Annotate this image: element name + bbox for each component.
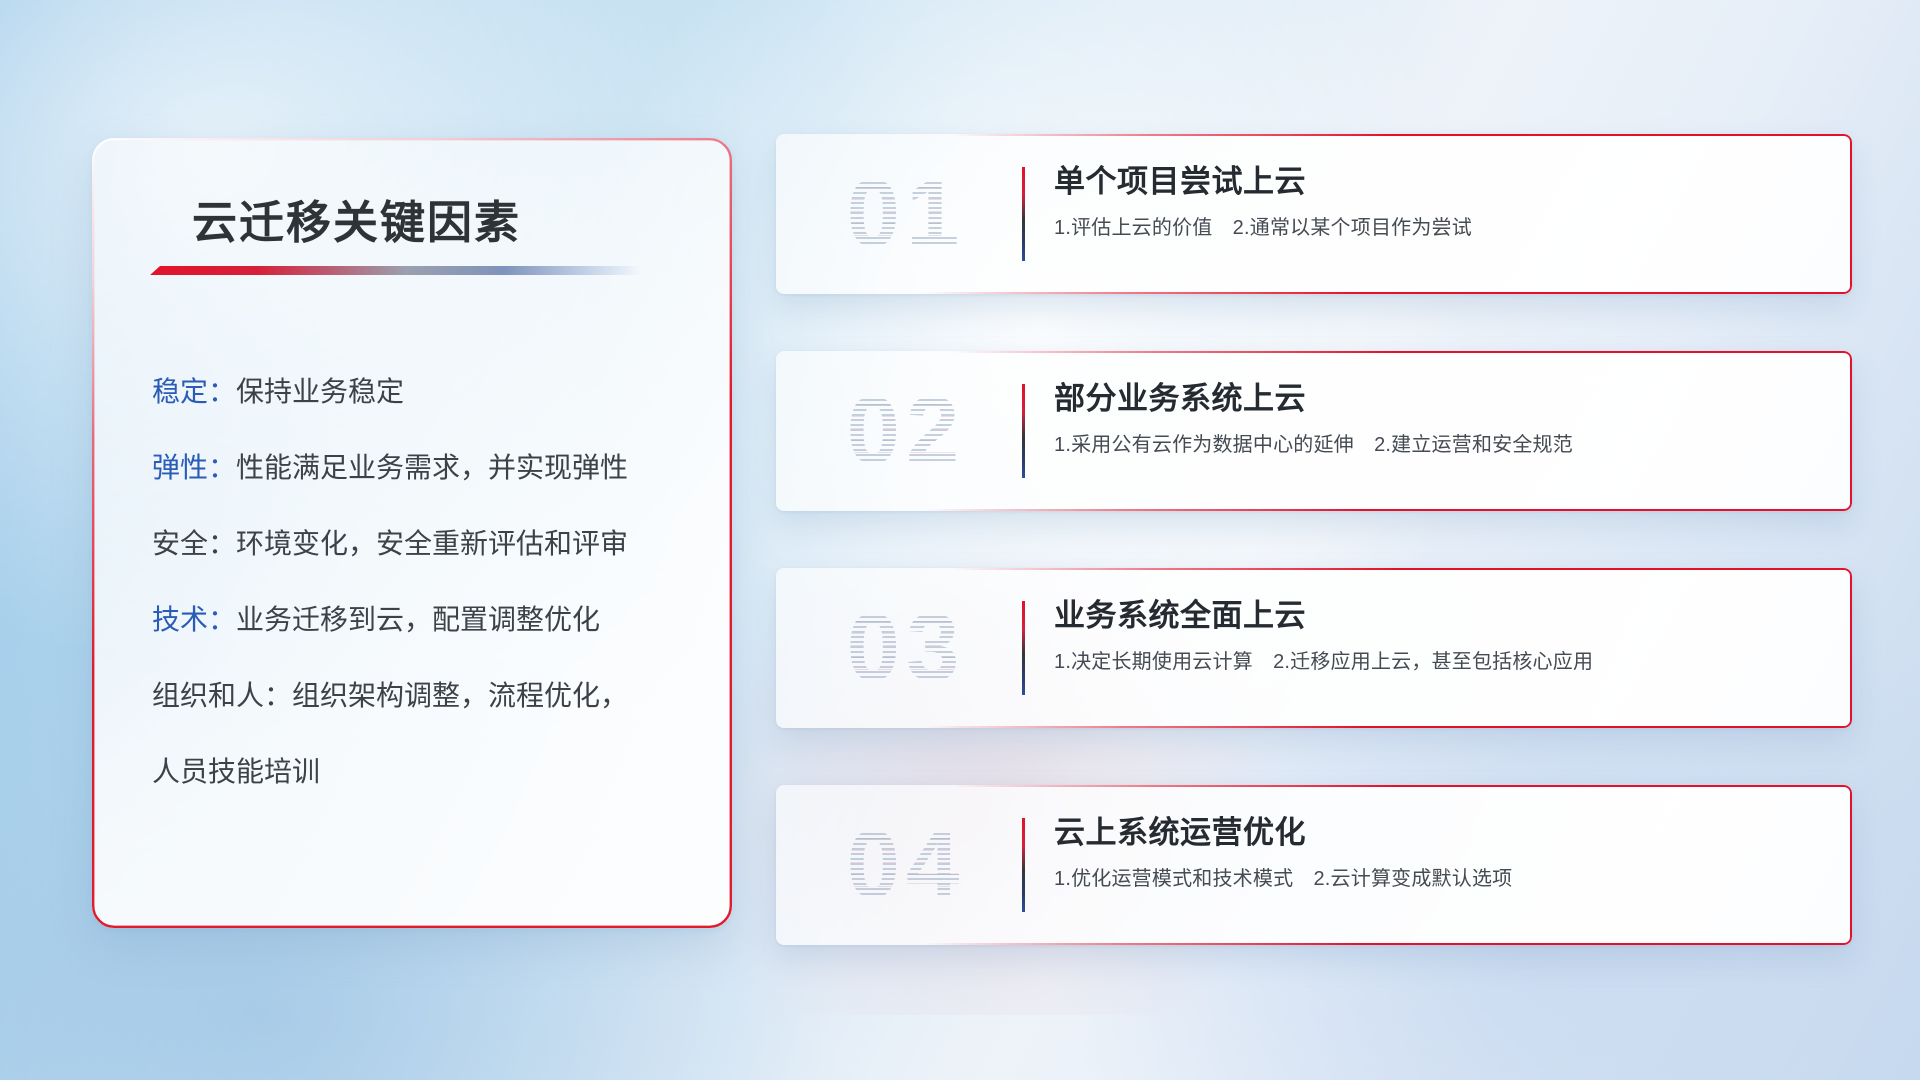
card-divider [1022, 818, 1025, 912]
stage-description: 1.采用公有云作为数据中心的延伸 2.建立运营和安全规范 [1054, 433, 1812, 457]
list-item-text: 人员技能培训 [152, 758, 320, 786]
stage-card[interactable]: 02 02 部分业务系统上云 1.采用公有云作为数据中心的延伸 2.建立运营和安… [776, 351, 1852, 511]
list-item-text: 业务迁移到云，配置调整优化 [236, 606, 600, 634]
card-divider [1022, 601, 1025, 695]
stage-title: 单个项目尝试上云 [1054, 164, 1812, 201]
list-item: 稳定： 保持业务稳定 [152, 378, 696, 406]
list-item-text: 组织架构调整，流程优化， [292, 682, 628, 710]
stage-title: 云上系统运营优化 [1054, 815, 1812, 852]
stage-card[interactable]: 03 03 业务系统全面上云 1.决定长期使用云计算 2.迁移应用上云，甚至包括… [776, 568, 1852, 728]
stage-number: 04 [806, 803, 1006, 927]
list-item: 技术： 业务迁移到云，配置调整优化 [152, 606, 696, 634]
stage-title: 部分业务系统上云 [1054, 381, 1812, 418]
list-item-text: 保持业务稳定 [236, 378, 404, 406]
stage-description: 1.决定长期使用云计算 2.迁移应用上云，甚至包括核心应用 [1054, 650, 1812, 674]
stage-number: 02 [806, 369, 1006, 493]
card-divider [1022, 384, 1025, 478]
stage-description: 1.优化运营模式和技术模式 2.云计算变成默认选项 [1054, 867, 1812, 891]
list-item-label: 弹性： [152, 454, 236, 482]
list-item-label: 稳定： [152, 378, 236, 406]
stage-number: 03 [806, 586, 1006, 710]
list-item-label: 技术： [152, 606, 236, 634]
list-item: 弹性： 性能满足业务需求，并实现弹性 [152, 454, 696, 482]
stage-number: 01 [806, 152, 1006, 276]
stage-title: 业务系统全面上云 [1054, 598, 1812, 635]
list-item-continuation: 人员技能培训 [152, 758, 696, 786]
migration-stage-list: 01 01 单个项目尝试上云 1.评估上云的价值 2.通常以某个项目作为尝试 0… [776, 134, 1852, 945]
stage-card[interactable]: 04 04 云上系统运营优化 1.优化运营模式和技术模式 2.云计算变成默认选项 [776, 785, 1852, 945]
stage-description: 1.评估上云的价值 2.通常以某个项目作为尝试 [1054, 216, 1812, 240]
title-underline-accent [150, 266, 642, 275]
list-item-text: 环境变化，安全重新评估和评审 [236, 530, 628, 558]
key-factors-list: 稳定： 保持业务稳定 弹性： 性能满足业务需求，并实现弹性 安全： 环境变化，安… [152, 378, 696, 786]
list-item-label: 组织和人： [152, 682, 292, 710]
key-factors-panel: 云迁移关键因素 稳定： 保持业务稳定 弹性： 性能满足业务需求，并实现弹性 安全… [92, 138, 732, 928]
card-body: 单个项目尝试上云 1.评估上云的价值 2.通常以某个项目作为尝试 [1054, 164, 1812, 240]
list-item: 组织和人： 组织架构调整，流程优化， [152, 682, 696, 710]
card-body: 业务系统全面上云 1.决定长期使用云计算 2.迁移应用上云，甚至包括核心应用 [1054, 598, 1812, 674]
list-item: 安全： 环境变化，安全重新评估和评审 [152, 530, 696, 558]
card-divider [1022, 167, 1025, 261]
list-item-label: 安全： [152, 530, 236, 558]
card-body: 云上系统运营优化 1.优化运营模式和技术模式 2.云计算变成默认选项 [1054, 815, 1812, 891]
card-body: 部分业务系统上云 1.采用公有云作为数据中心的延伸 2.建立运营和安全规范 [1054, 381, 1812, 457]
list-item-text: 性能满足业务需求，并实现弹性 [236, 454, 628, 482]
stage-card[interactable]: 01 01 单个项目尝试上云 1.评估上云的价值 2.通常以某个项目作为尝试 [776, 134, 1852, 294]
page-title: 云迁移关键因素 [192, 186, 521, 251]
